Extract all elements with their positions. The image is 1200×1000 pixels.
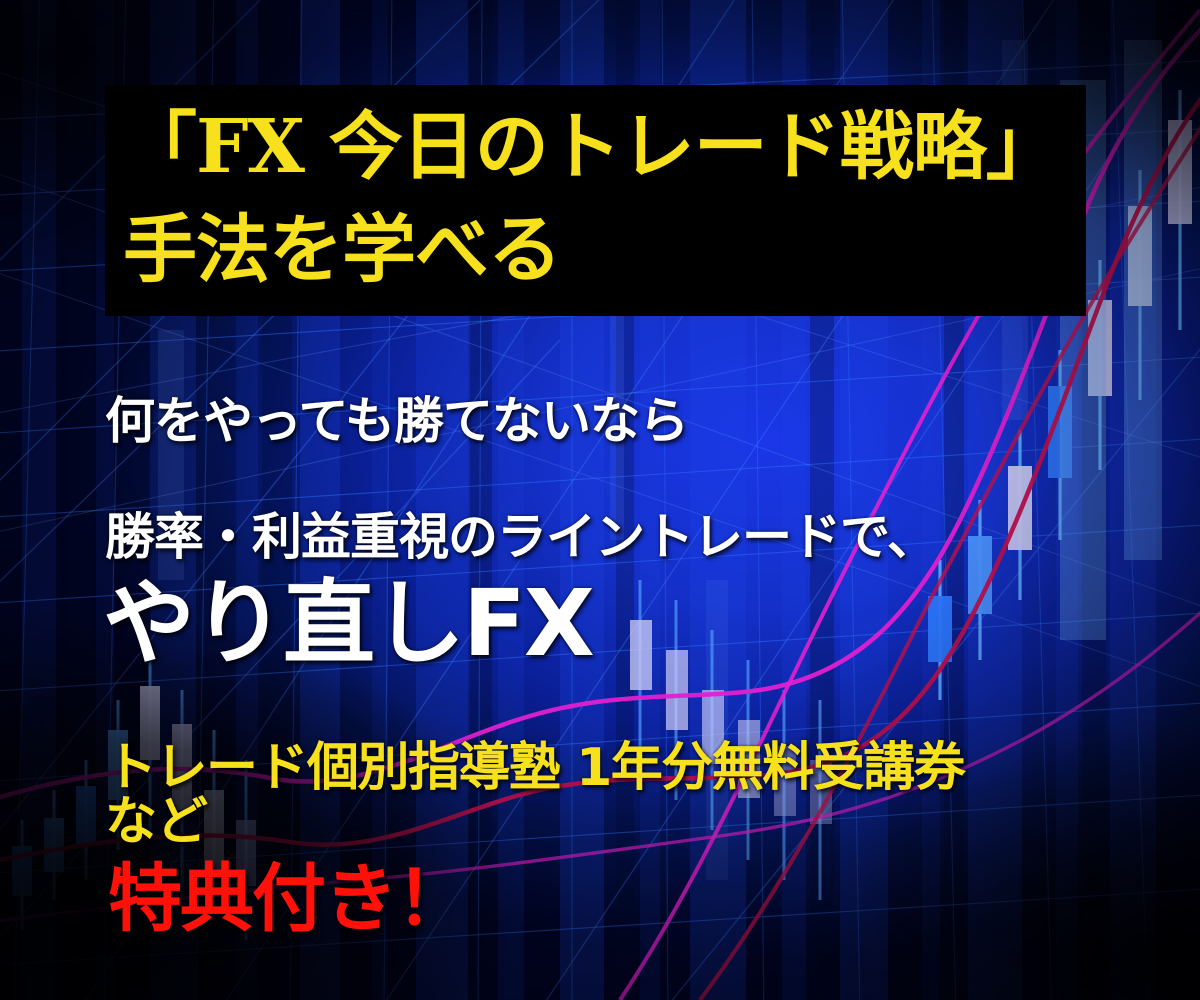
title-banner-box: 「FX 今日のトレード戦略」 手法を学べる xyxy=(105,85,1086,316)
bonus-copy-line-1: トレード個別指導塾 1年分無料受講券 xyxy=(105,742,964,794)
method-copy: 勝率・利益重視のライントレードで、 xyxy=(105,512,936,562)
fx-promo-banner: 「FX 今日のトレード戦略」 手法を学べる 何をやっても勝てないなら 勝率・利益… xyxy=(0,0,1200,1000)
bonus-copy-line-2: など xyxy=(105,796,207,848)
page-title-line-2: 手法を学べる xyxy=(123,201,1080,299)
page-title-line-1: 「FX 今日のトレード戦略」 xyxy=(123,93,1080,201)
bonus-highlight: 特典付き！ xyxy=(108,862,468,936)
product-name: やり直しFX xyxy=(103,578,593,670)
lead-copy: 何をやっても勝てないなら xyxy=(105,396,688,446)
